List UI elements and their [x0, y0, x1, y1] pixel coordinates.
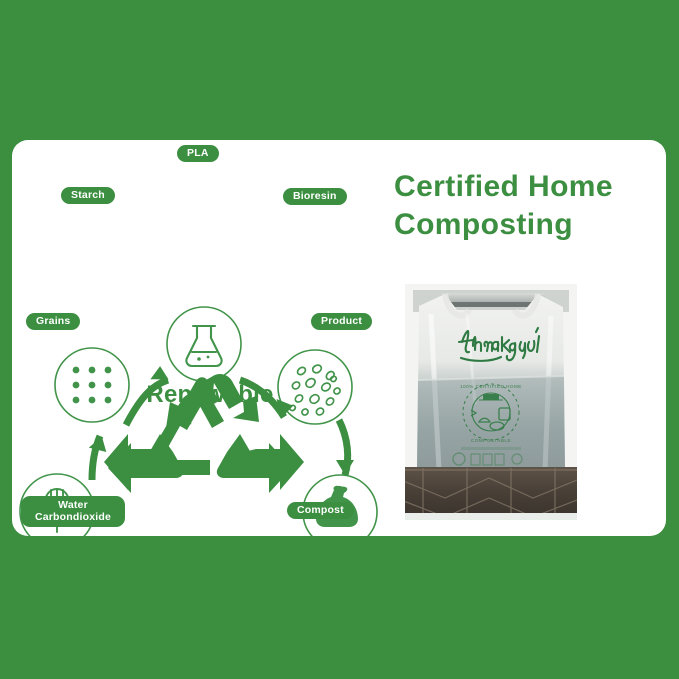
arrowhead-pla	[149, 365, 168, 381]
product-photo-image: 100% CERTIFIED HOME COMPOSTABLE	[405, 284, 577, 520]
product-photo: 100% CERTIFIED HOME COMPOSTABLE	[405, 284, 577, 520]
node-label-starch[interactable]: Starch	[61, 187, 115, 204]
node-starch-icon	[55, 348, 129, 422]
node-label-water-line1: Water	[29, 499, 117, 511]
node-label-pla[interactable]: PLA	[177, 145, 219, 162]
renewable-label: Renewable	[130, 381, 290, 409]
node-label-water-line2: Carbondioxide	[29, 511, 117, 523]
page-title-line2: Composting	[394, 206, 666, 244]
node-label-product[interactable]: Product	[311, 313, 372, 330]
page-title: Certified Home Composting	[394, 168, 666, 244]
poster-canvas: Certified Home Composting	[0, 0, 679, 679]
arrowhead-product	[336, 460, 354, 475]
node-label-compost[interactable]: Compost	[287, 502, 354, 519]
lifecycle-diagram: CO 2	[0, 0, 388, 396]
node-label-grains[interactable]: Grains	[26, 313, 80, 330]
node-label-water-carbondioxide[interactable]: Water Carbondioxide	[21, 496, 125, 527]
svg-text:100% CERTIFIED HOME: 100% CERTIFIED HOME	[460, 384, 522, 389]
svg-text:COMPOSTABLE: COMPOSTABLE	[471, 438, 511, 443]
node-label-bioresin[interactable]: Bioresin	[283, 188, 347, 205]
page-title-line1: Certified Home	[394, 170, 613, 203]
node-pla-icon	[167, 307, 241, 381]
